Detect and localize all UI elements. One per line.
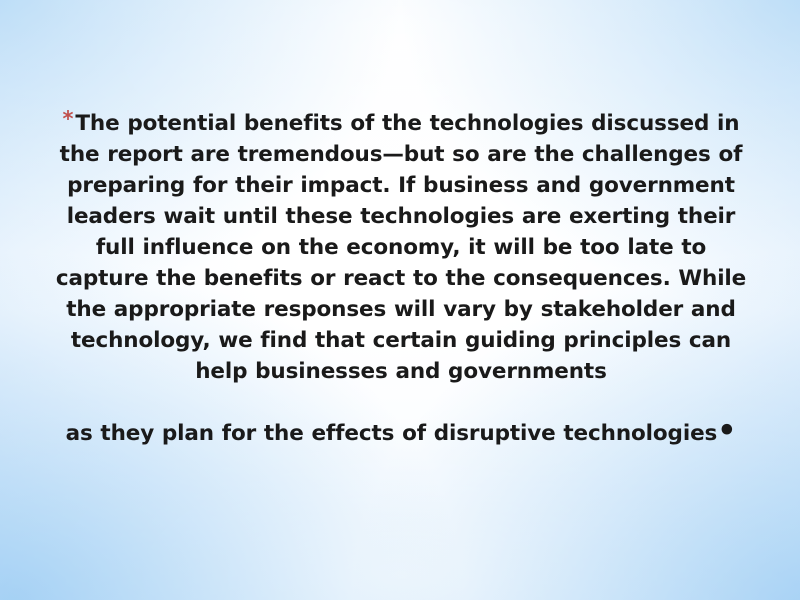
slide-canvas: *The potential benefits of the technolog… <box>0 0 800 600</box>
body-line-3: preparing for their impact. If business … <box>67 173 735 198</box>
body-line-2: the report are tremendous—but so are the… <box>60 142 743 167</box>
asterisk-bullet-icon: * <box>63 107 74 131</box>
terminal-period: • <box>717 413 736 448</box>
body-paragraph: *The potential benefits of the technolog… <box>48 104 754 449</box>
slide-content-area: *The potential benefits of the technolog… <box>0 0 800 600</box>
body-closing-line: as they plan for the effects of disrupti… <box>66 421 718 446</box>
body-line-1: The potential benefits of the technologi… <box>75 111 739 136</box>
body-line-5: full influence on the economy, it will b… <box>96 235 706 260</box>
body-line-6: capture the benefits or react to the con… <box>56 266 671 291</box>
body-text-block: *The potential benefits of the technolog… <box>48 104 754 449</box>
body-line-4: leaders wait until these technologies ar… <box>67 204 736 229</box>
paragraph-spacer <box>48 387 754 418</box>
